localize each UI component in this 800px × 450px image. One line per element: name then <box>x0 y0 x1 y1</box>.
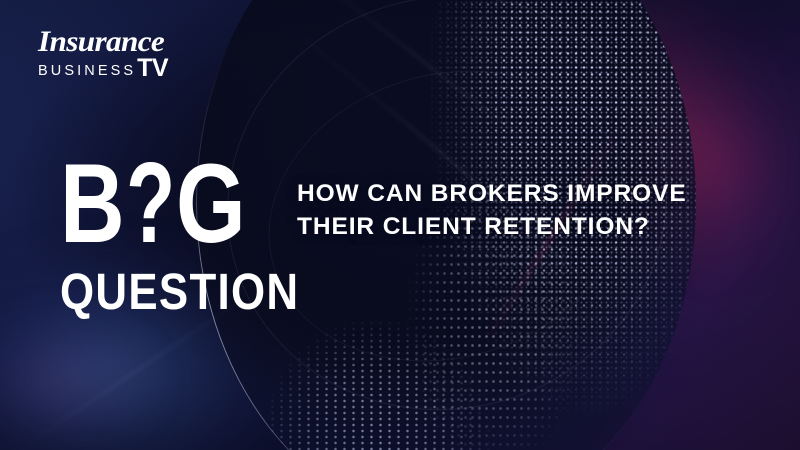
headline-line-2: THEIR CLIENT RETENTION? <box>297 211 707 244</box>
headline-line-1: HOW CAN BROKERS IMPROVE <box>297 178 707 211</box>
big-letter-g: G <box>176 148 229 260</box>
logo-word-business: BUSINESS <box>38 64 136 79</box>
question-mark-icon: ? <box>126 146 163 260</box>
magenta-glow-secondary <box>576 18 800 306</box>
logo-word-insurance: Insurance <box>38 28 194 57</box>
headline: HOW CAN BROKERS IMPROVE THEIR CLIENT RET… <box>297 178 707 243</box>
video-thumbnail-frame: Insurance BUSINESS TV B ? G QUESTION HOW… <box>0 0 800 450</box>
logo-second-row: BUSINESS TV <box>38 58 188 79</box>
big-letter-b: B <box>60 148 113 260</box>
big-question-subtitle: QUESTION <box>60 266 299 317</box>
logo-word-tv: TV <box>137 58 168 79</box>
logo[interactable]: Insurance BUSINESS TV <box>38 28 188 78</box>
